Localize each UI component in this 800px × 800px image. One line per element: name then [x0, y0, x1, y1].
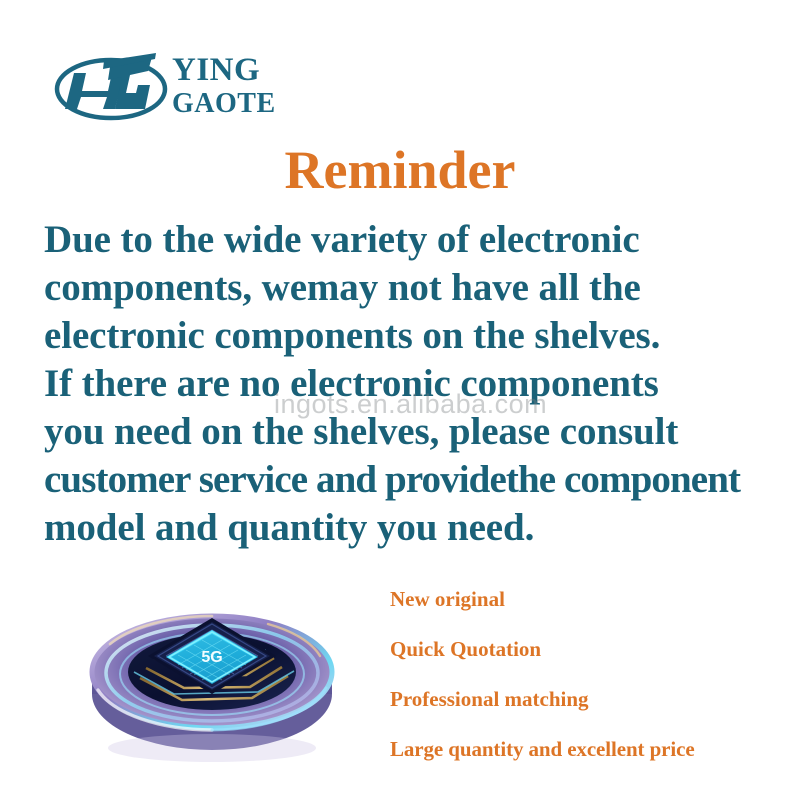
reminder-body-text: Due to the wide variety of electronic co… — [44, 216, 774, 552]
body-line: customer service and providethe componen… — [44, 456, 774, 504]
feature-item: Quick Quotation — [390, 624, 790, 674]
body-line: If there are no electronic components — [44, 360, 774, 408]
body-line: components, wemay not have all the — [44, 264, 774, 312]
product-chip-image: 5G — [62, 572, 362, 772]
body-line: model and quantity you need. — [44, 504, 774, 552]
page-title: Reminder — [0, 142, 800, 198]
brand-wordmark: YING GAOTE — [172, 54, 276, 118]
feature-item: Professional matching — [390, 674, 790, 724]
brand-name-line2: GAOTE — [172, 90, 276, 118]
brand-logo: YING GAOTE — [52, 46, 276, 126]
body-line: you need on the shelves, please consult — [44, 408, 774, 456]
feature-list: New original Quick Quotation Professiona… — [390, 574, 790, 774]
reminder-banner: YING GAOTE Reminder Due to the wide vari… — [0, 0, 800, 800]
brand-name-line1: YING — [172, 54, 276, 87]
hg-monogram-icon — [52, 47, 170, 125]
feature-item: New original — [390, 574, 790, 624]
chip-label: 5G — [201, 649, 222, 666]
feature-item: Large quantity and excellent price — [390, 724, 790, 774]
body-line: electronic components on the shelves. — [44, 312, 774, 360]
body-line: Due to the wide variety of electronic — [44, 216, 774, 264]
